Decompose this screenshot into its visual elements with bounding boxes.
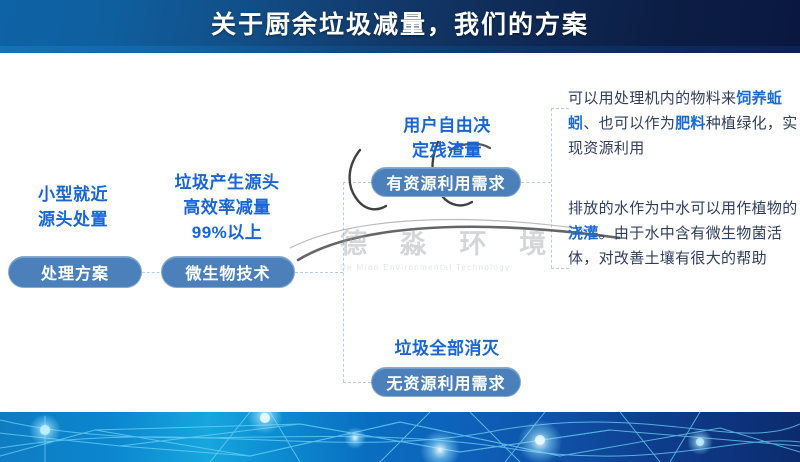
branch-top-caption: 用户自由决 定残渣量 [373, 113, 521, 163]
connector-right-trunk-to-outcome-1 [551, 108, 569, 109]
company-watermark: 德 淼 环 境 De Miao Environmental Technology [340, 222, 580, 280]
connector-level2-to-trunk [295, 272, 343, 273]
outcome-text-1: 可以用处理机内的物料来饲养蚯蚓、也可以作为肥料种植绿化，实现资源利用 [568, 86, 800, 161]
outcome-2-seg-2: 。由于水中含有微生物菌活体，对改善土壤有很大的帮助 [568, 225, 782, 267]
outcome-2-seg-1: 排放的水作为中水可以用作植物的 [568, 200, 798, 217]
pill-has-resource-demand[interactable]: 有资源利用需求 [371, 167, 521, 197]
pill-microbial-technology[interactable]: 微生物技术 [161, 256, 295, 288]
connector-trunk-to-top-branch [343, 182, 371, 183]
pill-root-treatment-plan[interactable]: 处理方案 [8, 256, 142, 288]
root-caption: 小型就近 源头处置 [8, 182, 138, 232]
outcome-1-seg-2: 、也可以作为 [583, 115, 675, 132]
outcome-1-seg-1: 可以用处理机内的物料来 [568, 90, 736, 107]
slide-canvas: 关于厨余垃圾减量，我们的方案 德 淼 环 境 De Miao Environme… [0, 0, 800, 462]
pill-no-resource-demand[interactable]: 无资源利用需求 [371, 367, 521, 397]
outcome-1-highlight-2: 肥料 [675, 115, 706, 132]
watermark-cn-text: 德 淼 环 境 [340, 222, 580, 261]
branch-bottom-caption: 垃圾全部消灭 [373, 336, 521, 361]
connector-center-trunk [343, 182, 344, 382]
outcome-text-2: 排放的水作为中水可以用作植物的浇灌。由于水中含有微生物菌活体，对改善土壤有很大的… [568, 196, 800, 271]
footer-network-graphic [0, 412, 800, 462]
header-underline [0, 46, 800, 53]
page-title: 关于厨余垃圾减量，我们的方案 [0, 5, 800, 41]
connector-right-trunk [551, 108, 552, 268]
connector-top-branch-to-right-trunk [521, 182, 551, 183]
watermark-en-text: De Miao Environmental Technology [340, 263, 580, 272]
outcome-2-highlight-1: 浇灌 [568, 225, 599, 242]
connector-right-trunk-to-outcome-2 [551, 268, 569, 269]
connector-trunk-to-bottom-branch [343, 382, 371, 383]
level2-caption: 垃圾产生源头 高效率减量 99%以上 [152, 170, 302, 245]
